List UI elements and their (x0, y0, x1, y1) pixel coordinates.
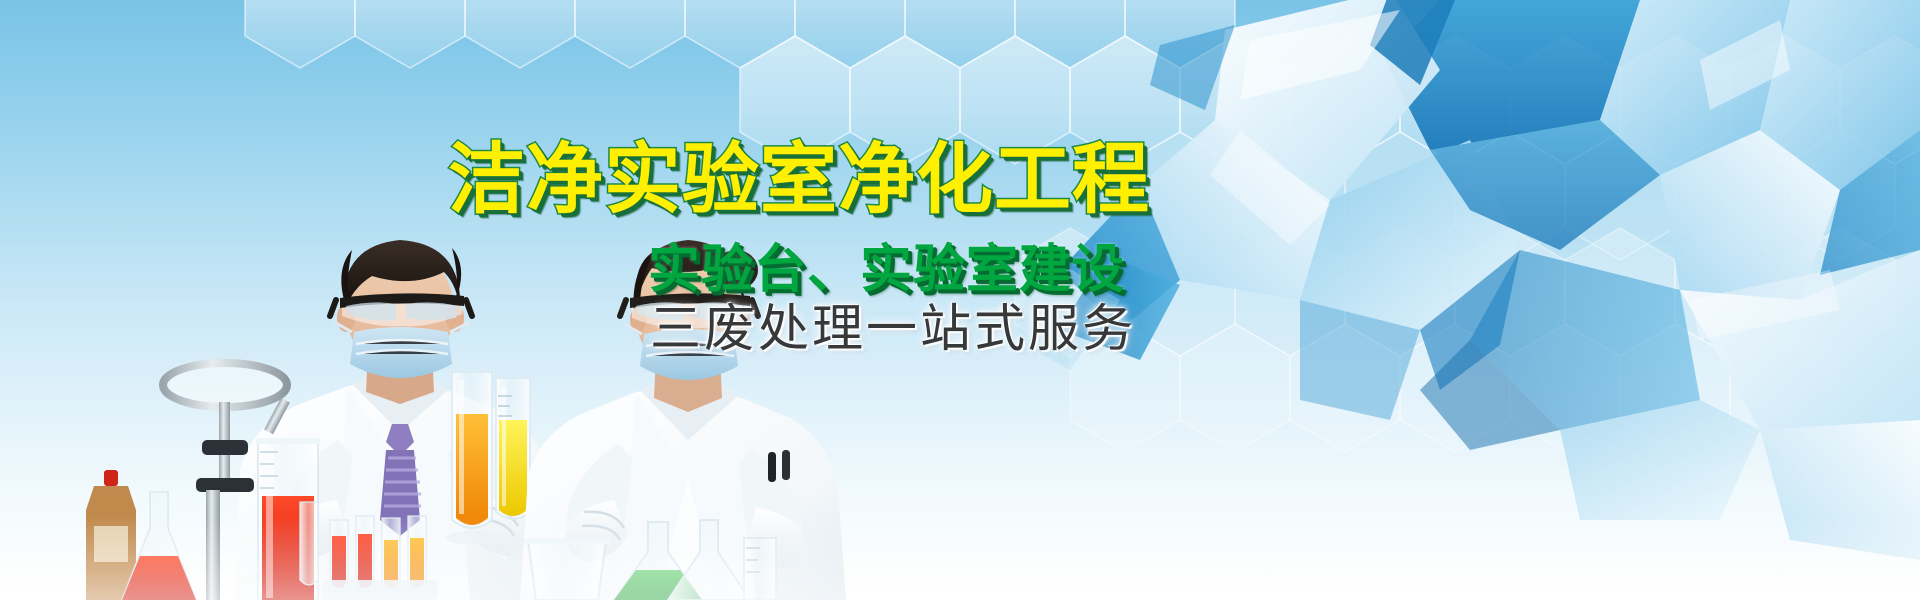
bottom-fade (0, 0, 1920, 600)
lab-purification-banner: 洁净实验室净化工程 实验台、实验室建设 三废处理一站式服务 (0, 0, 1920, 600)
